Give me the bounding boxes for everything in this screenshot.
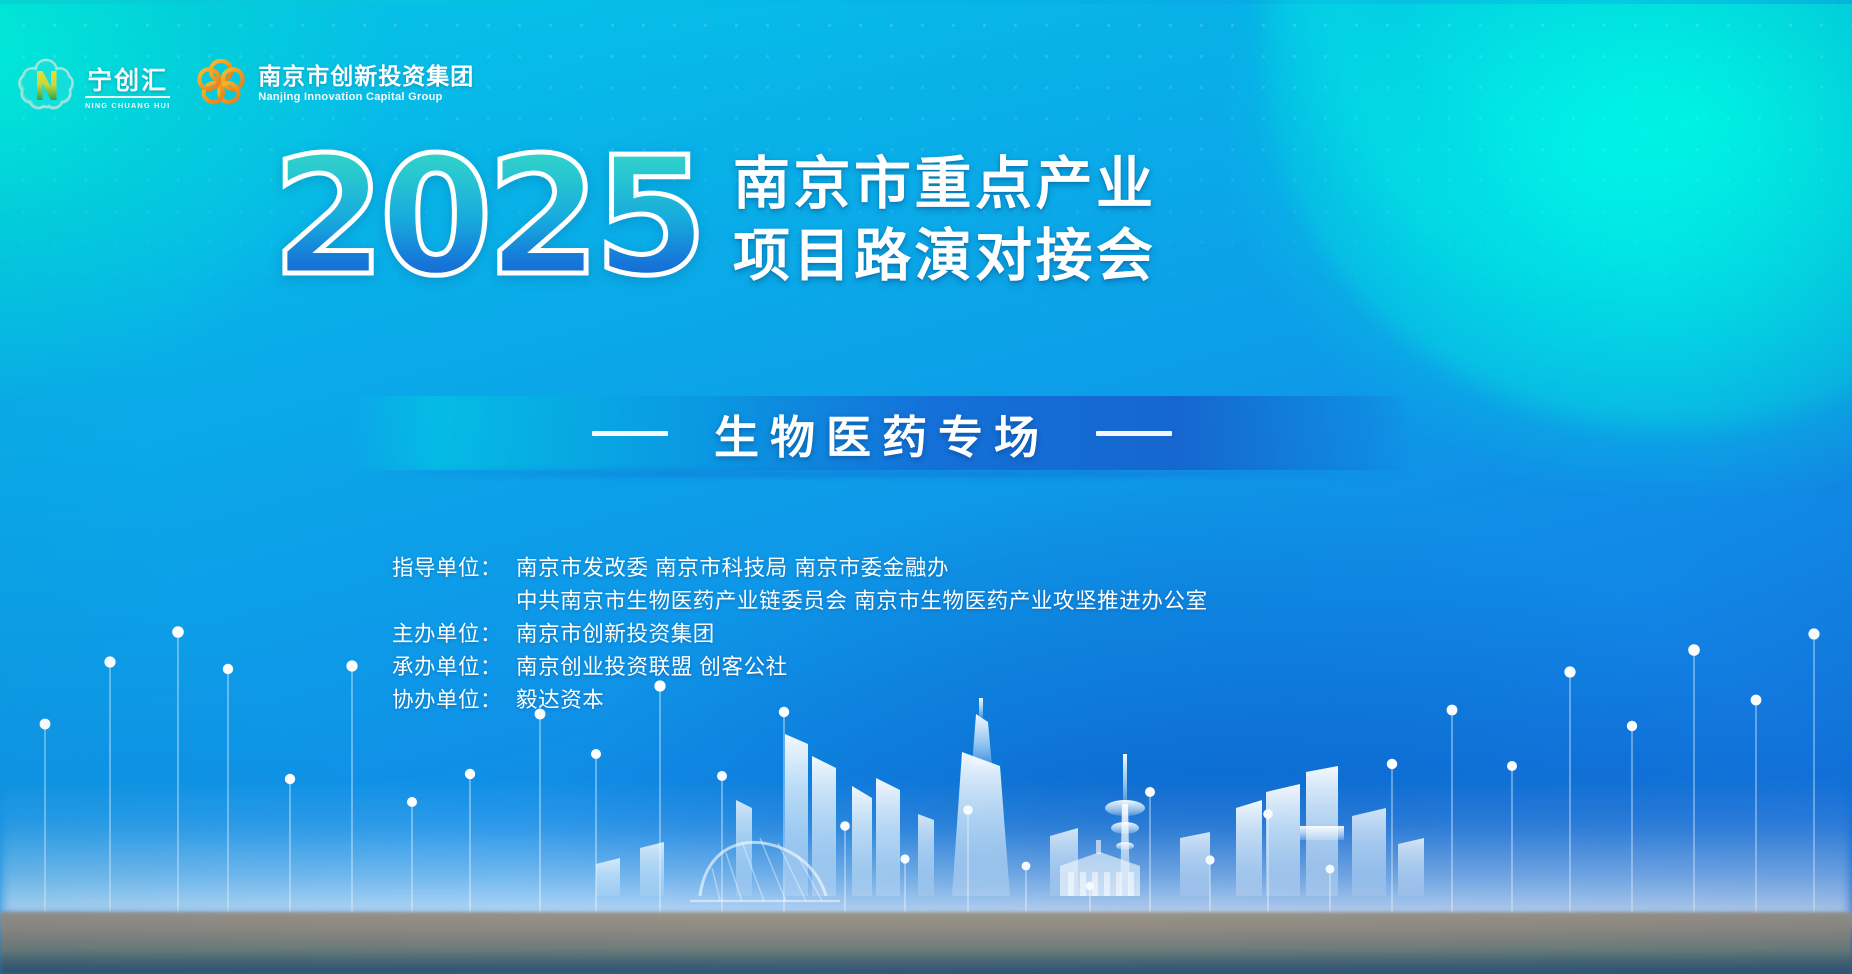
logo-nanjing-innovation-capital[interactable]: 南京市创新投资集团 Nanjing Innovation Capital Gro…	[194, 55, 474, 112]
event-poster-stage: 宁创汇 NING CHUANG HUI	[0, 0, 1852, 974]
dash-left-decor	[592, 431, 668, 436]
corner-arc-decor	[1272, 0, 1852, 300]
subtitle-text: 生物医药专场	[714, 401, 1050, 466]
header-logo-group: 宁创汇 NING CHUANG HUI	[16, 55, 474, 112]
credit-value: 南京市发改委 南京市科技局 南京市委金融办	[516, 552, 949, 585]
page-title-line-1: 南京市重点产业	[733, 148, 1157, 220]
nanjing-skyline-silhouette	[0, 696, 1852, 936]
logo-primary-cn: 宁创汇	[87, 68, 168, 94]
page-title-line-2: 项目路演对接会	[733, 220, 1157, 292]
logo-primary-rule	[85, 96, 170, 98]
year-numeral: 2025	[272, 136, 702, 299]
logo-ning-chuang-hui[interactable]: 宁创汇 NING CHUANG HUI	[16, 56, 170, 112]
logo-secondary-en: Nanjing Innovation Capital Group	[258, 91, 474, 103]
corner-glow-decor	[1262, 0, 1852, 430]
credit-row: 中共南京市生物医药产业链委员会 南京市生物医药产业攻坚推进办公室	[392, 585, 1208, 618]
credit-label: 指导单位：	[392, 552, 516, 585]
logo-ning-chuang-hui-text: 宁创汇 NING CHUANG HUI	[85, 68, 170, 112]
plum-blossom-n-logo-icon	[16, 56, 76, 112]
page-title: 南京市重点产业 项目路演对接会	[733, 148, 1157, 293]
dash-right-decor	[1096, 431, 1172, 436]
subtitle-banner: 生物医药专场	[352, 396, 1412, 470]
earth-band-shadow-decor	[0, 946, 1852, 974]
logo-secondary-cn: 南京市创新投资集团	[258, 64, 474, 89]
credit-value: 中共南京市生物医药产业链委员会 南京市生物医药产业攻坚推进办公室	[516, 585, 1208, 618]
credit-row: 指导单位： 南京市发改委 南京市科技局 南京市委金融办	[392, 552, 1208, 585]
credit-label	[392, 585, 516, 618]
top-edge-accent	[0, 0, 1852, 4]
nanjing-innovation-flower-logo-icon	[194, 55, 248, 112]
logo-primary-en: NING CHUANG HUI	[85, 101, 170, 110]
logo-nanjing-innovation-text: 南京市创新投资集团 Nanjing Innovation Capital Gro…	[258, 64, 474, 102]
